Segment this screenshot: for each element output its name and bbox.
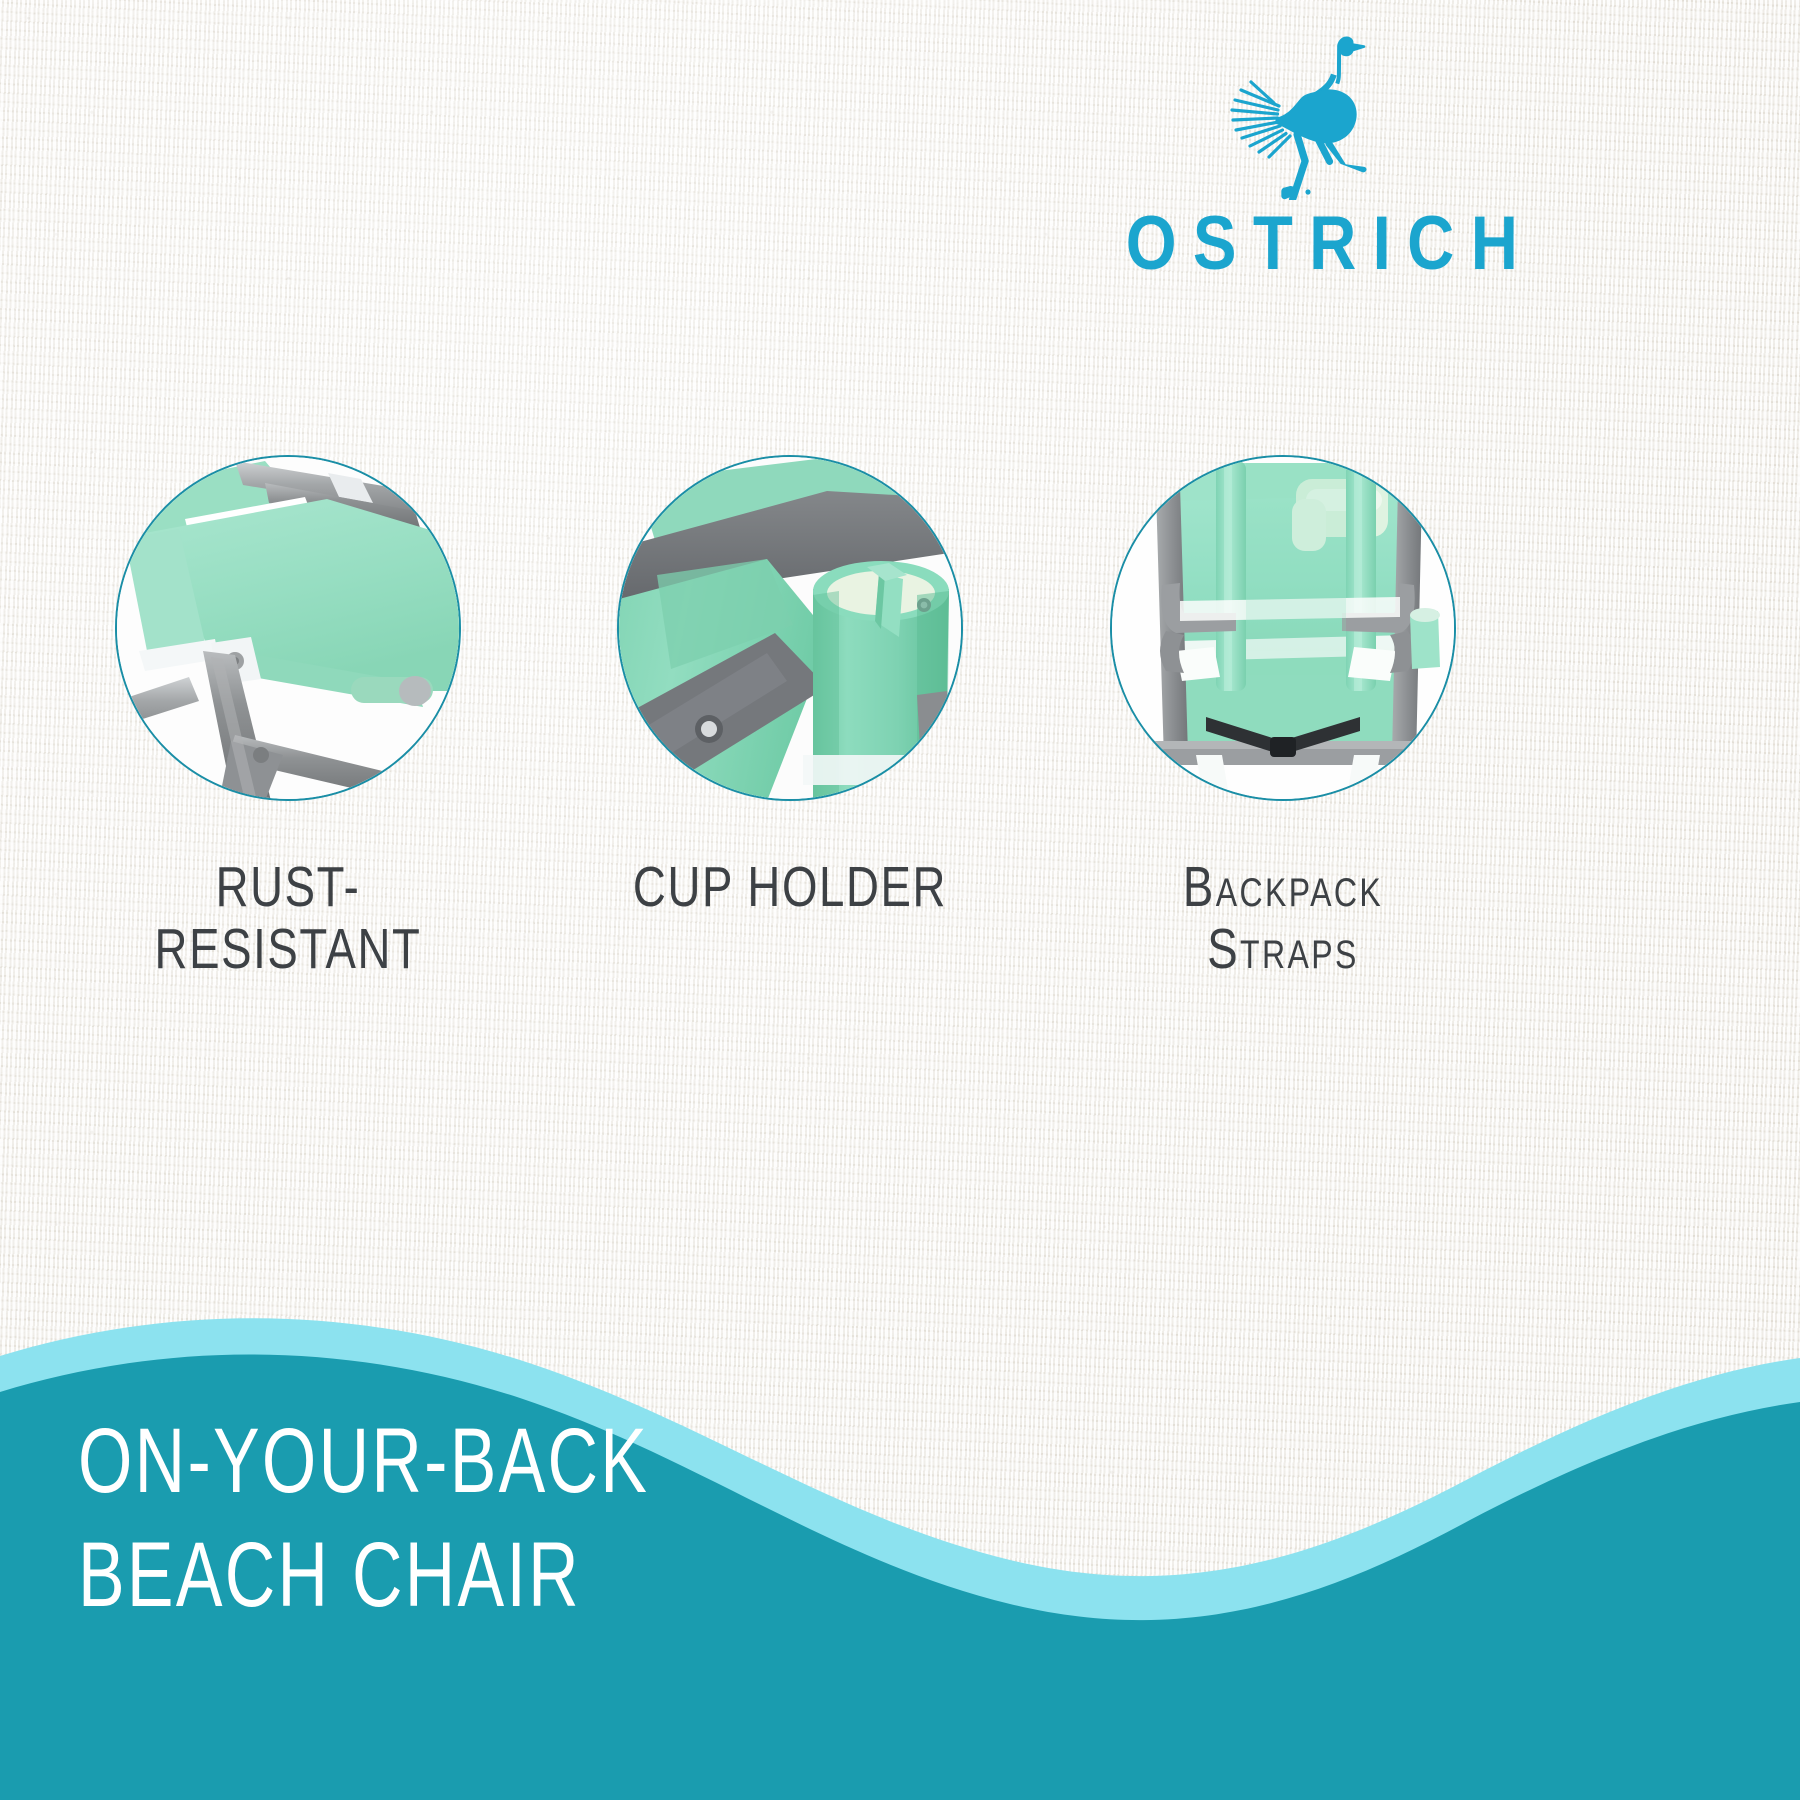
cup-holder-photo	[617, 455, 963, 801]
product-title-line: ON-YOUR-BACK	[78, 1404, 649, 1518]
feature-highlights: RUST- RESISTANT	[0, 455, 1800, 1135]
product-title: ON-YOUR-BACK BEACH CHAIR	[78, 1404, 649, 1632]
feature-image-circle-cup-holder[interactable]	[617, 455, 963, 801]
feature-caption-rust-resistant: RUST- RESISTANT	[88, 857, 488, 980]
caption-line: Straps	[1083, 919, 1483, 981]
product-infographic-poster: OSTRICH	[0, 0, 1800, 1800]
product-title-line: BEACH CHAIR	[78, 1518, 649, 1632]
caption-line: RUST-	[88, 857, 488, 919]
backpack-straps-photo	[1110, 455, 1456, 801]
caption-line: RESISTANT	[88, 919, 488, 981]
feature-backpack-straps: Backpack Straps	[1033, 455, 1533, 980]
caption-line: Backpack	[1083, 857, 1483, 919]
feature-cup-holder: CUP HOLDER	[540, 455, 1040, 919]
feature-rust-resistant: RUST- RESISTANT	[38, 455, 538, 980]
caption-line: CUP HOLDER	[590, 857, 990, 919]
ostrich-bird-silhouette-icon	[1195, 30, 1385, 200]
brand-logo: OSTRICH	[1080, 30, 1500, 282]
feature-image-circle-backpack-straps[interactable]	[1110, 455, 1456, 801]
feature-caption-backpack-straps: Backpack Straps	[1083, 857, 1483, 980]
feature-image-circle-rust-resistant[interactable]	[115, 455, 461, 801]
feature-caption-cup-holder: CUP HOLDER	[590, 857, 990, 919]
brand-wordmark: OSTRICH	[1109, 206, 1470, 282]
rust-resistant-photo	[115, 455, 461, 801]
